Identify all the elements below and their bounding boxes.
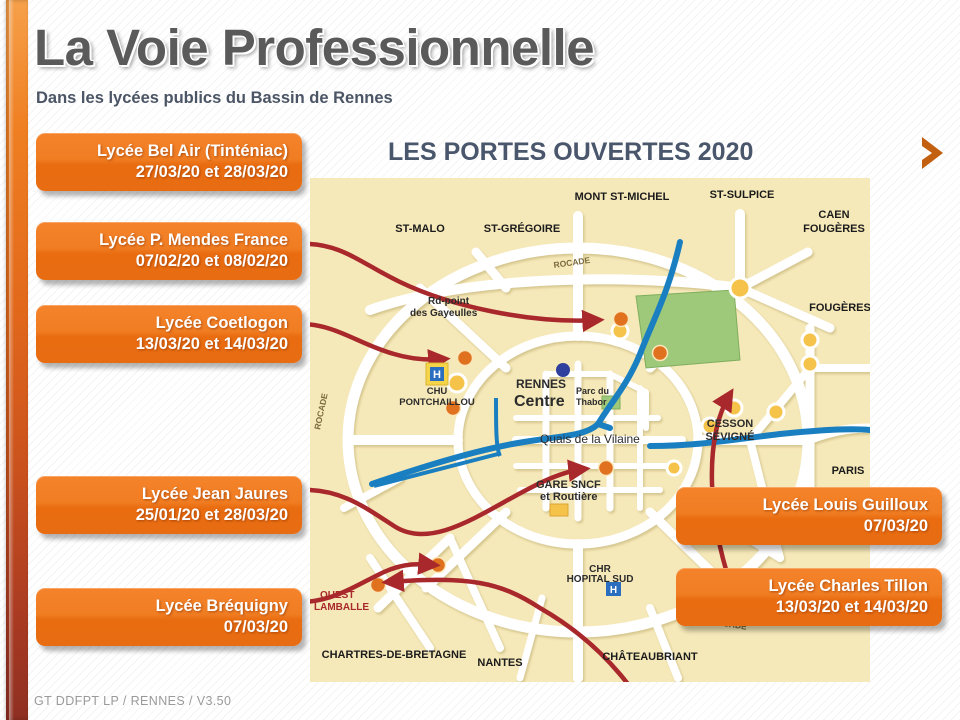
svg-text:RENNES: RENNES [516, 377, 566, 391]
svg-text:PARIS: PARIS [832, 465, 865, 477]
slide-root: La Voie Professionnelle Dans les lycées … [0, 0, 960, 720]
svg-text:ST-GRÉGOIRE: ST-GRÉGOIRE [484, 222, 560, 235]
svg-text:et Routière: et Routière [540, 491, 597, 503]
page-title: La Voie Professionnelle [34, 18, 594, 77]
callout-jean-jaures[interactable]: Lycée Jean Jaures 25/01/20 et 28/03/20 [36, 476, 302, 534]
callout-dates: 07/03/20 [48, 617, 288, 638]
callout-school-name: Lycée Bel Air (Tinténiac) [48, 141, 288, 162]
thabor-marker-icon [556, 363, 570, 377]
svg-text:ST-SULPICE: ST-SULPICE [710, 189, 775, 201]
callout-belair[interactable]: Lycée Bel Air (Tinténiac) 27/03/20 et 28… [36, 133, 302, 191]
svg-text:FOUGÈRES: FOUGÈRES [809, 301, 870, 314]
callout-dates: 13/03/20 et 14/03/20 [688, 597, 928, 618]
callout-school-name: Lycée Charles Tillon [688, 576, 928, 597]
svg-text:CHÂTEAUBRIANT: CHÂTEAUBRIANT [602, 650, 698, 663]
svg-text:des Gayeulles: des Gayeulles [410, 308, 478, 319]
left-accent-bar [6, 0, 28, 720]
svg-text:CHARTRES-DE-BRETAGNE: CHARTRES-DE-BRETAGNE [322, 649, 467, 661]
callout-mendes-france[interactable]: Lycée P. Mendes France 07/02/20 et 08/02… [36, 222, 302, 280]
svg-text:PONTCHAILLOU: PONTCHAILLOU [399, 397, 475, 408]
callout-dates: 07/03/20 [688, 516, 928, 537]
svg-text:LAMBALLE: LAMBALLE [314, 602, 369, 613]
svg-text:Parc du: Parc du [576, 386, 609, 396]
svg-text:SÉVIGNÉ: SÉVIGNÉ [706, 430, 755, 443]
svg-text:Rd-point: Rd-point [428, 296, 470, 307]
svg-text:HOPITAL SUD: HOPITAL SUD [567, 574, 634, 585]
callout-school-name: Lycée Jean Jaures [48, 484, 288, 505]
svg-text:ST-MALO: ST-MALO [395, 223, 445, 235]
svg-text:NANTES: NANTES [477, 657, 522, 669]
page-subtitle: Dans les lycées publics du Bassin de Ren… [36, 89, 393, 108]
svg-text:GARE SNCF: GARE SNCF [536, 479, 601, 491]
callout-dates: 27/03/20 et 28/03/20 [48, 162, 288, 183]
svg-text:MONT ST-MICHEL: MONT ST-MICHEL [575, 191, 670, 203]
callout-school-name: Lycée Bréquigny [48, 596, 288, 617]
gare-sncf-icon [550, 504, 568, 516]
callout-louis-guilloux[interactable]: Lycée Louis Guilloux 07/03/20 [676, 487, 942, 545]
svg-text:Thabor: Thabor [576, 397, 607, 407]
svg-text:CAEN: CAEN [818, 209, 849, 221]
footer-text: GT DDFPT LP / RENNES / V3.50 [34, 694, 231, 708]
callout-school-name: Lycée Louis Guilloux [688, 495, 928, 516]
chevron-right-icon[interactable] [916, 134, 950, 172]
marker-coetlogon [653, 346, 668, 361]
callout-dates: 25/01/20 et 28/03/20 [48, 505, 288, 526]
svg-text:H: H [610, 585, 617, 596]
svg-text:Centre: Centre [514, 393, 565, 410]
svg-text:H: H [433, 369, 441, 381]
callout-school-name: Lycée P. Mendes France [48, 230, 288, 251]
svg-text:Quais de la Vilaine: Quais de la Vilaine [540, 432, 640, 446]
svg-text:FOUGÈRES: FOUGÈRES [803, 222, 865, 235]
callout-coetlogon[interactable]: Lycée Coetlogon 13/03/20 et 14/03/20 [36, 305, 302, 363]
marker-jaures [599, 461, 614, 476]
callout-dates: 13/03/20 et 14/03/20 [48, 334, 288, 355]
callout-charles-tillon[interactable]: Lycée Charles Tillon 13/03/20 et 14/03/2… [676, 568, 942, 626]
callout-school-name: Lycée Coetlogon [48, 313, 288, 334]
callout-brequigny[interactable]: Lycée Bréquigny 07/03/20 [36, 588, 302, 646]
callout-dates: 07/02/20 et 08/02/20 [48, 251, 288, 272]
section-title: LES PORTES OUVERTES 2020 [388, 138, 753, 167]
svg-text:OUEST: OUEST [320, 590, 354, 601]
svg-text:CHU: CHU [427, 386, 448, 397]
marker-belair [614, 312, 629, 327]
marker-mendes [458, 351, 473, 366]
svg-text:CESSON: CESSON [707, 418, 754, 430]
